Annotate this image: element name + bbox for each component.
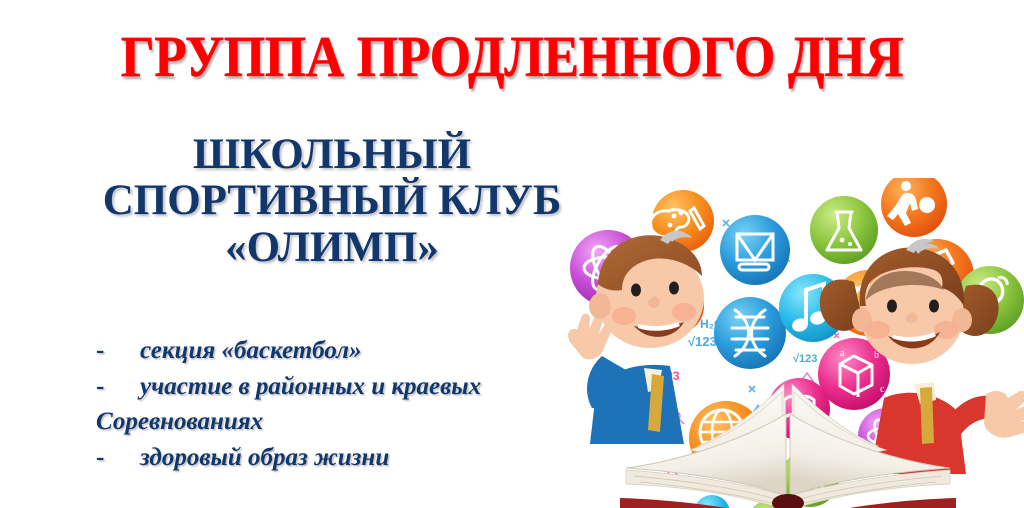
bullet-dash: -	[96, 440, 140, 476]
list-item-label: участие в районных и краевых	[140, 373, 481, 400]
scissors-icon	[723, 220, 729, 226]
dna-icon	[714, 297, 786, 369]
girl-hand	[984, 391, 1024, 438]
club-heading-line-2: СПОРТИВНЫЙ КЛУБ	[52, 178, 612, 224]
soccer-player-icon	[881, 178, 947, 237]
club-heading-line-3: «ОЛИМП»	[52, 225, 612, 271]
girl-tie	[920, 387, 934, 444]
list-item: -участие в районных и краевых	[96, 369, 616, 405]
svg-text:a: a	[840, 348, 845, 359]
list-item-continuation: Соревнованиях	[96, 404, 616, 440]
club-heading: ШКОЛЬНЫЙ СПОРТИВНЫЙ КЛУБ «ОЛИМП»	[52, 132, 612, 271]
benefits-list: -секция «баскетбол» -участие в районных …	[96, 333, 616, 475]
list-item: -секция «баскетбол»	[96, 333, 616, 369]
svg-text:c: c	[880, 384, 885, 395]
boy-eye	[669, 282, 679, 295]
list-item-label: секция «баскетбол»	[140, 337, 362, 364]
symbol-sqrt-icon: √123	[688, 334, 717, 349]
flask-icon	[810, 196, 878, 264]
list-item-label: здоровый образ жизни	[140, 444, 389, 471]
symbol-sqrt-icon: √123	[793, 353, 817, 365]
page-title: ГРУППА ПРОДЛЕННОГО ДНЯ	[41, 28, 983, 86]
bullet-dash: -	[96, 369, 140, 405]
presentation-icon	[720, 215, 790, 285]
children-reading-book-illustration: √123 √123 H₂O H₂O 2+2 √123 2+2 H₂O	[548, 178, 1024, 508]
bullet-dash: -	[96, 333, 140, 369]
club-heading-line-1: ШКОЛЬНЫЙ	[52, 132, 612, 178]
girl-eye	[887, 300, 897, 313]
boy-eye	[631, 284, 641, 297]
slide-canvas: ГРУППА ПРОДЛЕННОГО ДНЯ ШКОЛЬНЫЙ СПОРТИВН…	[0, 0, 1024, 508]
scissors-icon	[749, 386, 755, 392]
list-item: -здоровый образ жизни	[96, 440, 616, 476]
girl-eye	[929, 300, 939, 313]
